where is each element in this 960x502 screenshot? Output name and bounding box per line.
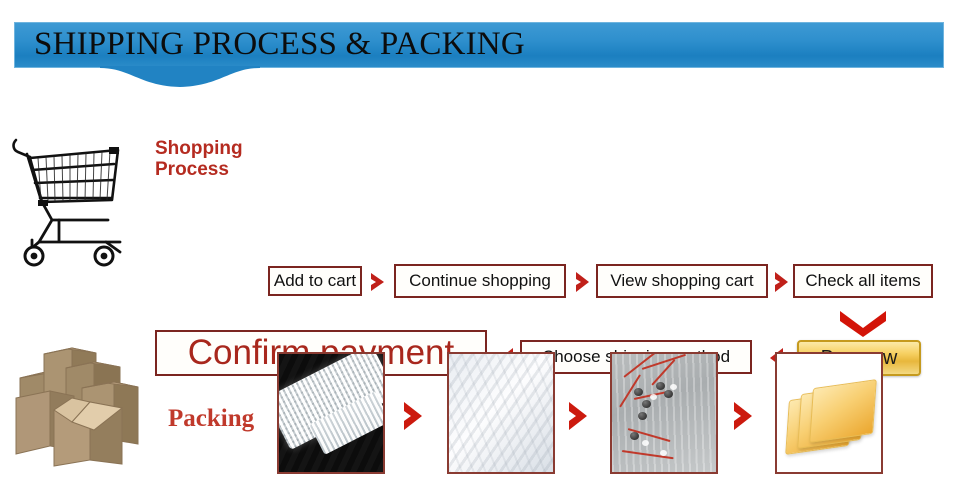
step-view-shopping-cart[interactable]: View shopping cart	[596, 264, 768, 298]
shopping-process-label-line2: Process	[155, 159, 267, 180]
chevron-right-icon	[730, 400, 760, 432]
page-title: SHIPPING PROCESS & PACKING	[34, 22, 525, 68]
packing-photo-padded-mailers	[775, 352, 883, 474]
step-check-all-items-label: Check all items	[805, 271, 920, 291]
step-check-all-items[interactable]: Check all items	[793, 264, 933, 298]
cardboard-boxes-icon	[10, 342, 170, 470]
step-add-to-cart-label: Add to cart	[274, 271, 356, 291]
packing-photo-foam-wrap	[447, 352, 555, 474]
padded-mailer-icon	[809, 379, 877, 443]
packing-section: Packing	[0, 330, 960, 500]
step-add-to-cart[interactable]: Add to cart	[268, 266, 362, 296]
shopping-process-section: Shopping Process Add to cart Continue sh…	[0, 118, 960, 283]
chevron-right-icon	[400, 400, 430, 432]
banner-ribbon-tail-icon	[100, 66, 260, 88]
shopping-process-label-line1: Shopping	[155, 138, 267, 159]
packing-photo-wrapped-components	[610, 352, 718, 474]
chevron-right-icon	[573, 270, 595, 294]
packing-photo-bubble-wrap	[277, 352, 385, 474]
shopping-process-label: Shopping Process	[155, 138, 267, 180]
chevron-right-icon	[772, 270, 794, 294]
step-view-shopping-cart-label: View shopping cart	[610, 271, 753, 291]
chevron-right-icon	[565, 400, 595, 432]
shopping-cart-icon	[8, 128, 138, 268]
step-continue-shopping[interactable]: Continue shopping	[394, 264, 566, 298]
page-banner: SHIPPING PROCESS & PACKING	[14, 22, 944, 68]
chevron-right-icon	[368, 271, 390, 293]
packing-label: Packing	[168, 405, 278, 433]
step-continue-shopping-label: Continue shopping	[409, 271, 551, 291]
